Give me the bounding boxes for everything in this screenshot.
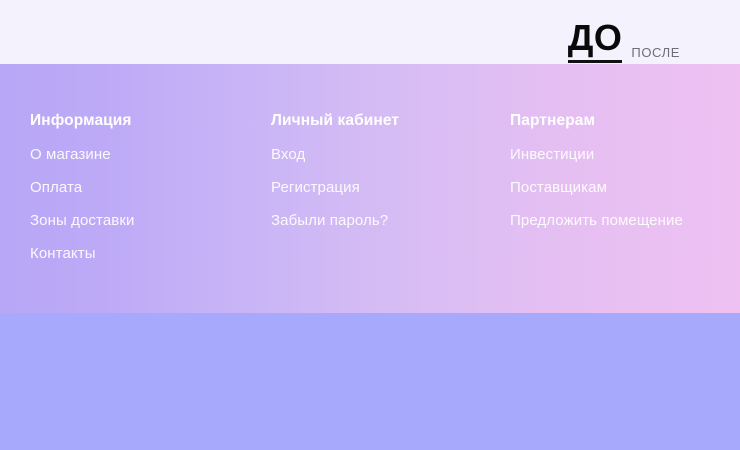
footer-columns: Информация О магазине Оплата Зоны достав… [30,112,730,262]
before-after-toggle[interactable]: ДО ПОСЛЕ [568,20,680,63]
footer-link-investments[interactable]: Инвестиции [510,146,730,163]
toggle-option-after[interactable]: ПОСЛЕ [631,46,680,59]
footer-link-payment[interactable]: Оплата [30,179,271,196]
toggle-option-before[interactable]: ДО [568,20,623,63]
footer-link-offer-premises[interactable]: Предложить помещение [510,212,730,229]
footer-gradient-panel: Информация О магазине Оплата Зоны достав… [0,64,740,313]
footer-column-title: Партнерам [510,112,730,130]
footer-link-contacts[interactable]: Контакты [30,245,271,262]
footer-column-information: Информация О магазине Оплата Зоны достав… [30,112,271,262]
page-root: ДО ПОСЛЕ Информация О магазине Оплата Зо… [0,0,740,450]
footer-column-account: Личный кабинет Вход Регистрация Забыли п… [271,112,510,262]
bottom-band [0,313,740,450]
footer-link-login[interactable]: Вход [271,146,510,163]
footer-column-title: Личный кабинет [271,112,510,130]
footer-link-suppliers[interactable]: Поставщикам [510,179,730,196]
footer-link-register[interactable]: Регистрация [271,179,510,196]
footer-link-delivery-zones[interactable]: Зоны доставки [30,212,271,229]
footer-link-about-store[interactable]: О магазине [30,146,271,163]
footer-column-partners: Партнерам Инвестиции Поставщикам Предлож… [510,112,730,262]
footer-column-title: Информация [30,112,271,130]
footer-link-forgot-password[interactable]: Забыли пароль? [271,212,510,229]
